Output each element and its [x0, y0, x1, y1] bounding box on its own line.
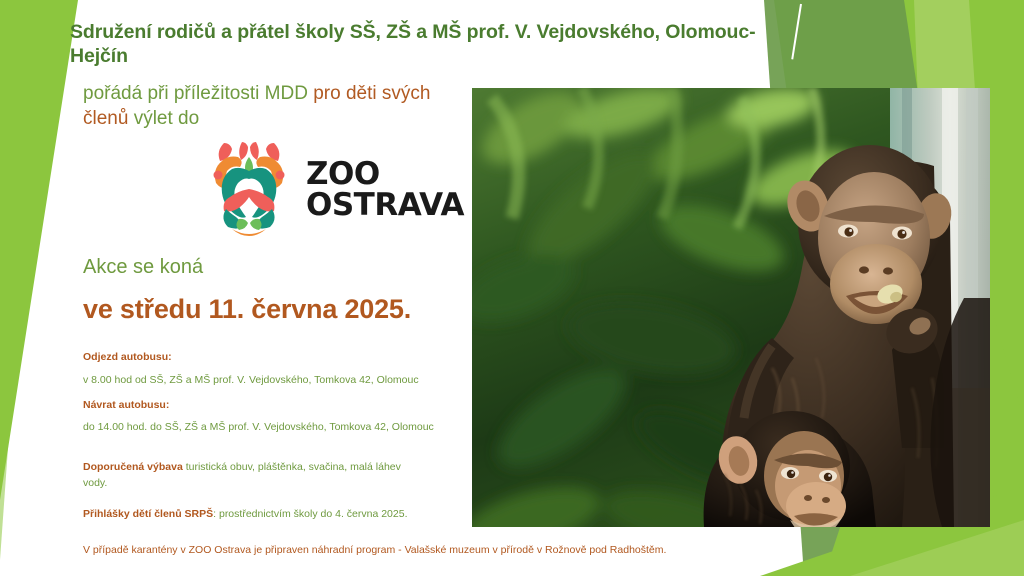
quarantine-note: V případě karantény v ZOO Ostrava je při… — [83, 543, 783, 558]
zoo-ostrava-logo: ZOO OSTRAVA — [206, 139, 464, 240]
event-lead: Akce se koná — [83, 256, 203, 279]
zoo-ostrava-wordmark: ZOO OSTRAVA — [306, 159, 464, 220]
return-heading: Návrat autobusu: — [83, 398, 458, 414]
departure-text: v 8.00 hod od SŠ, ZŠ a MŠ prof. V. Vejdo… — [83, 373, 458, 389]
chimpanzee-photo-image — [472, 88, 990, 527]
event-date: ve středu 11. června 2025. — [83, 294, 411, 325]
equipment-line: Doporučená výbava turistická obuv, plášt… — [83, 460, 423, 492]
intro-part-1: pořádá při příležitosti MDD — [83, 83, 313, 104]
equipment-lead: Doporučená výbava — [83, 461, 183, 473]
signup-line: Přihlášky dětí členů SRPŠ: prostřednictv… — [83, 507, 483, 523]
presentation-slide: Sdružení rodičů a přátel školy SŠ, ZŠ a … — [0, 0, 1024, 576]
departure-heading: Odjezd autobusu: — [83, 350, 458, 366]
logo-line-zoo: ZOO — [306, 159, 464, 189]
chimpanzee-photo — [472, 88, 990, 527]
trip-details: Odjezd autobusu: v 8.00 hod od SŠ, ZŠ a … — [83, 350, 458, 445]
logo-line-ostrava: OSTRAVA — [306, 190, 464, 220]
intro-part-3: výlet do — [134, 108, 199, 129]
signup-text: : prostřednictvím školy do 4. června 202… — [213, 508, 407, 520]
intro-paragraph: pořádá při příležitosti MDD pro děti svý… — [83, 81, 463, 131]
poster-title: Sdružení rodičů a přátel školy SŠ, ZŠ a … — [70, 20, 810, 69]
signup-lead: Přihlášky dětí členů SRPŠ — [83, 508, 213, 520]
return-text: do 14.00 hod. do SŠ, ZŠ a MŠ prof. V. Ve… — [83, 420, 458, 436]
zoo-ostrava-ornament-icon — [206, 139, 292, 240]
